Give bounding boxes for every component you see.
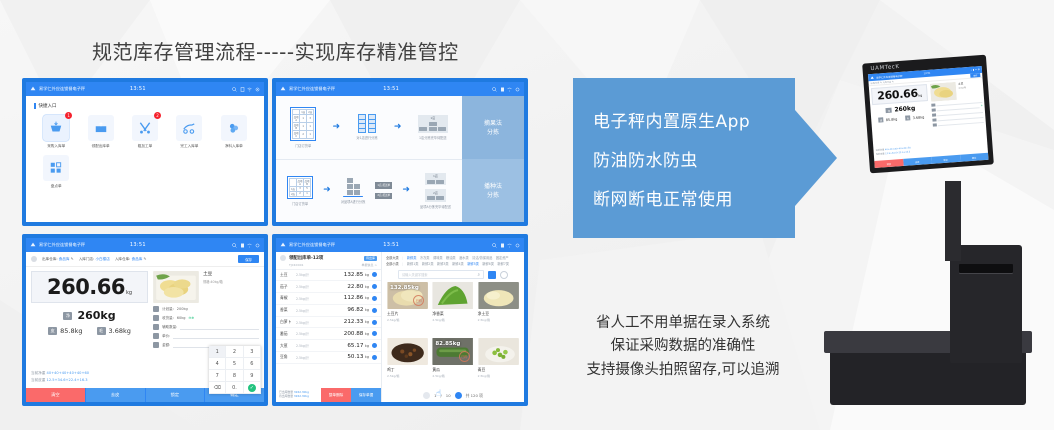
label: 收货量: bbox=[162, 316, 174, 321]
statusbar-time: 13:51 bbox=[383, 86, 399, 92]
item-name: 白萝卜 bbox=[280, 319, 296, 325]
item-unit: kg bbox=[365, 355, 369, 359]
flow-step-order: 1店2店 品项A13 品项B11 品项C21 门店订货单 bbox=[290, 107, 316, 148]
step-caption: 对1店进行分拣 bbox=[356, 135, 377, 140]
arrow-right-icon: ➜ bbox=[402, 186, 410, 195]
item-qty: 112.86 bbox=[320, 295, 363, 301]
key-9[interactable]: 9 bbox=[244, 370, 261, 382]
tile[interactable] bbox=[88, 115, 114, 141]
product-card[interactable]: 鸡丁 2.5kg/箱 bbox=[387, 338, 428, 389]
screen-lock-button[interactable]: 锁定 bbox=[931, 155, 960, 164]
key-backspace[interactable]: ⌫ bbox=[209, 382, 226, 394]
statusbar-time: 13:51 bbox=[130, 86, 146, 92]
field-icon bbox=[153, 333, 159, 339]
item-name: 番茄 bbox=[280, 331, 296, 337]
product-card[interactable]: 净香菜 2.5kg/箱 bbox=[432, 282, 473, 333]
scale-screen[interactable]: 易学仁外应连锁餐电子秤 13:51 ⌕ ▮ ≈ ⚙ 出库仓库 ✎ 入库门店 ✎ … bbox=[868, 66, 989, 168]
dispatch-outbound-icon bbox=[94, 121, 108, 135]
flow-row-picking: 1店2店 品项A13 品项B11 品项C21 门店订货单 ➜ bbox=[276, 96, 462, 159]
product-spec: 2.5kg/箱 bbox=[432, 318, 473, 322]
product-name: 土豆 bbox=[203, 271, 223, 277]
caption-line-3: 支持摄像头拍照留存,可以追溯 bbox=[538, 359, 828, 382]
delivery-tag-2: 2店 配送单 bbox=[375, 193, 392, 199]
screen-weight-display: 260.66 kg bbox=[871, 84, 928, 105]
product-spec: 2.5kg/箱 bbox=[432, 374, 473, 378]
field-received-qty[interactable]: 收货量:60kg⊖⊕ bbox=[153, 315, 259, 321]
category-bars: 全部大类 | 新鲜类 冷冻类 调味类 粮油类 酒水类 清洁/劳保用品 固定资产 … bbox=[382, 252, 524, 267]
item-qty: 22.80 bbox=[320, 284, 363, 290]
screen-confirm-button[interactable]: 确定 bbox=[960, 153, 989, 162]
screen-net-value: 260kg bbox=[894, 105, 915, 114]
quick-entry-grid: 1 采购入库单 领配出库单 2 bbox=[26, 109, 264, 189]
product-name: 净香菜 bbox=[432, 311, 473, 317]
brand-label: UAMTecK bbox=[870, 64, 900, 72]
potato-slices-image bbox=[930, 82, 957, 102]
value: 200kg bbox=[177, 307, 188, 311]
td: 品项A bbox=[293, 114, 300, 122]
field-plan-qty[interactable]: 计划量:200kg bbox=[153, 306, 259, 312]
item-qty: 65.17 bbox=[320, 343, 363, 349]
screen-net-chip: 净 bbox=[886, 108, 892, 113]
item-unit: kg bbox=[365, 296, 369, 300]
caption-line-2: 保证采购数据的准确性 bbox=[538, 335, 828, 358]
tile[interactable] bbox=[221, 115, 247, 141]
order-header: 领配出库单-12项 待出库 TJCKX001 单据信息 > bbox=[276, 252, 381, 270]
tile[interactable] bbox=[176, 115, 202, 141]
product-name: 土豆片 bbox=[387, 311, 428, 317]
label: 辅助数量: bbox=[162, 325, 177, 330]
product-name: 青豆 bbox=[478, 367, 519, 373]
battery-icon bbox=[500, 87, 505, 92]
product-card[interactable]: 青豆 2.5kg/箱 bbox=[478, 338, 519, 389]
net-chip: 净 bbox=[63, 312, 72, 320]
callout-line-3: 断网断电正常使用 bbox=[593, 185, 795, 210]
item-spec: 2.5kg/斤 bbox=[296, 331, 320, 336]
order-sums: 已出库数量 3262.30kg 待出库数量 3262.30kg bbox=[276, 388, 321, 402]
net-value: 260kg bbox=[77, 309, 115, 322]
check-icon: ✓ bbox=[248, 384, 256, 392]
store-card-title: 1店 bbox=[430, 116, 435, 120]
lock-button[interactable]: 锁定 bbox=[145, 388, 205, 402]
flow-row-sowing: 品项A品项B 1店35 2店21 门店订货单 ➜ bbox=[276, 159, 462, 223]
td: 2 bbox=[297, 191, 304, 196]
item-qty: 212.33 bbox=[320, 319, 363, 325]
order-table: 1店2店 品项A13 品项B11 品项C21 bbox=[290, 107, 316, 141]
rough-processing-icon bbox=[138, 121, 152, 135]
side-label-line1: 播种法 bbox=[484, 183, 502, 190]
table-row[interactable]: 青椒2.5kg/斤112.86kg bbox=[276, 293, 381, 305]
refresh-icon[interactable] bbox=[500, 271, 508, 279]
order-title: 领配出库单-12项 bbox=[289, 255, 323, 261]
item-spec: 2.5kg/斤 bbox=[296, 308, 320, 313]
item-spec: 2.5kg/斤 bbox=[296, 272, 320, 277]
item-action-icon[interactable] bbox=[372, 284, 377, 289]
search-icon bbox=[492, 87, 497, 92]
weight-display: 260.66 kg bbox=[31, 271, 148, 303]
label: 金额: bbox=[162, 343, 170, 348]
field-aux-qty[interactable]: 辅助数量: bbox=[153, 324, 259, 330]
tile-label: 领配出库单 bbox=[92, 144, 110, 149]
product-name: 净土豆 bbox=[478, 311, 519, 317]
item-unit: kg bbox=[365, 285, 369, 289]
order-panel: 领配出库单-12项 待出库 TJCKX001 单据信息 > 土豆2.5kg/斤1… bbox=[276, 252, 382, 402]
app-logo-icon bbox=[280, 242, 286, 248]
key-3[interactable]: 3 bbox=[244, 346, 261, 358]
screen-product-spec: 40kg/箱 bbox=[958, 86, 966, 90]
item-unit: kg bbox=[365, 273, 369, 277]
pagination: ☝ 1 / 10 共 120 项 bbox=[382, 389, 524, 402]
screen-tare-chip: 皮 bbox=[878, 117, 884, 122]
key-1[interactable]: 1 bbox=[209, 346, 226, 358]
screen-save-button[interactable]: 保存 bbox=[970, 73, 980, 77]
arrow-right-icon: ➜ bbox=[394, 123, 402, 132]
sum-expr: 12.5+34.6+22.4+16.3 bbox=[47, 378, 88, 382]
product-spec: 2.5kg/箱 bbox=[387, 374, 428, 378]
key-6[interactable]: 6 bbox=[244, 358, 261, 370]
save-order-button[interactable]: 保存单据 bbox=[351, 388, 381, 402]
field-icon bbox=[153, 306, 159, 312]
diced-chicken-image bbox=[387, 338, 428, 365]
item-qty: 200.88 bbox=[320, 331, 363, 337]
label: 入库门店: bbox=[79, 257, 95, 261]
product-image bbox=[478, 338, 519, 365]
stocktake-icon bbox=[49, 161, 63, 175]
store-card-title: 2店 bbox=[433, 191, 438, 195]
key-2[interactable]: 2 bbox=[226, 346, 243, 358]
flow-step-cart: 对品项A进行分拣 bbox=[341, 178, 366, 205]
product-row: 土豆 规格:40kg/箱 bbox=[153, 271, 259, 303]
quick-entry-item-rough-processing[interactable]: 2 粗加工单 bbox=[123, 115, 167, 149]
printer-paper-slot bbox=[959, 264, 1014, 275]
order-items: 土豆2.5kg/斤132.85kg 茄子2.5kg/斤22.80kg 青椒2.5… bbox=[276, 270, 381, 389]
screen-weight: 260.66 bbox=[877, 87, 918, 103]
item-qty: 132.85 bbox=[320, 272, 363, 278]
screenshot-quick-entry[interactable]: 易学仁外应连锁餐电子秤 13:51 快捷入口 1 采购入库单 bbox=[22, 78, 268, 226]
item-name: 香菜 bbox=[280, 307, 296, 313]
shelf-graphic bbox=[358, 114, 376, 133]
avatar bbox=[31, 256, 37, 262]
quick-entry-item-finished-inbound[interactable]: 完工入库单 bbox=[167, 115, 211, 149]
side-label-line2: 分拣 bbox=[487, 192, 499, 199]
scale-neck bbox=[945, 181, 961, 261]
sum2-key: 待出库数量 bbox=[279, 394, 293, 398]
battery-icon bbox=[240, 243, 245, 248]
td: 2店 bbox=[290, 191, 297, 196]
product-spec: 2.5kg/箱 bbox=[478, 374, 519, 378]
screen-product-thumb bbox=[930, 82, 957, 102]
save-button[interactable]: 保存 bbox=[238, 255, 259, 263]
side-label-sowing: 播种法 分拣 bbox=[462, 159, 524, 222]
tile-label: 采购入库单 bbox=[47, 144, 65, 149]
product-spec: 2.5kg/箱 bbox=[478, 318, 519, 322]
field-icon bbox=[153, 324, 159, 330]
screen-product-name: 土豆 bbox=[958, 81, 966, 86]
tare-button[interactable]: 去皮 bbox=[85, 388, 145, 402]
quick-entry-item-dispatch-outbound[interactable]: 领配出库单 bbox=[78, 115, 122, 149]
step-caption: 门店订货单 bbox=[292, 201, 308, 206]
statusbar: 易学仁外应连锁餐电子秤 13:51 bbox=[276, 82, 524, 96]
product-thumbnail bbox=[153, 271, 199, 303]
screen-sum2-key: 当前皮重 bbox=[876, 152, 885, 156]
badge: 2 bbox=[154, 112, 161, 119]
value: 60kg bbox=[177, 316, 186, 320]
purchase-inbound-icon bbox=[49, 121, 63, 135]
benefits-caption: 省人工不用单据在录入系统 保证采购数据的准确性 支持摄像头拍照留存,可以追溯 bbox=[538, 312, 828, 382]
statusbar-app-title: 易学仁外应连锁餐电子秤 bbox=[39, 242, 85, 248]
field-in-warehouse[interactable]: 入库仓库: 食品库 ✎ bbox=[115, 257, 147, 262]
search-input[interactable]: 请输入关键字搜索 ⌕ bbox=[398, 270, 484, 279]
arrow-right-icon: ➜ bbox=[323, 186, 331, 195]
grid-view-icon[interactable] bbox=[488, 271, 496, 279]
store-card-title: 1店 bbox=[433, 174, 438, 178]
item-unit: kg bbox=[365, 344, 369, 348]
item-action-icon[interactable] bbox=[372, 355, 377, 360]
step-caption: 门店订货单 bbox=[295, 143, 311, 148]
app-logo-icon bbox=[280, 86, 286, 92]
step-caption: 对品项A进行分拣 bbox=[341, 199, 366, 204]
flow-step-shelves: 对1店进行分拣 bbox=[356, 114, 377, 140]
item-spec: 2.5kg/斤 bbox=[296, 296, 320, 301]
item-spec: 2.5kg/斤 bbox=[296, 284, 320, 289]
value: 食品库 bbox=[132, 257, 143, 261]
page-total: 10 bbox=[446, 393, 451, 398]
product-spec: 2.5kg/箱 bbox=[387, 318, 428, 322]
order-icon bbox=[280, 255, 286, 261]
weight-value: 260.66 bbox=[47, 275, 125, 299]
item-count: 共 120 项 bbox=[466, 393, 483, 399]
label: 出库仓库: bbox=[42, 257, 58, 261]
item-action-icon[interactable] bbox=[372, 296, 377, 301]
app-logo-icon bbox=[870, 75, 874, 79]
order-footer: 已出库数量 3262.30kg 待出库数量 3262.30kg 整单删除 保存单… bbox=[276, 388, 381, 402]
product-image bbox=[387, 338, 428, 365]
page-title: 规范库存管理流程-----实现库存精准管控 bbox=[92, 36, 459, 65]
key-4[interactable]: 4 bbox=[209, 358, 226, 370]
item-action-icon[interactable] bbox=[372, 308, 377, 313]
side-label-line1: 摘果法 bbox=[484, 120, 502, 127]
search-placeholder: 请输入关键字搜索 bbox=[402, 272, 428, 277]
store-card-2: 2店 bbox=[425, 189, 446, 202]
flow-main: 1店2店 品项A13 品项B11 品项C21 门店订货单 ➜ bbox=[276, 96, 462, 222]
weight-sums: 当前净重 40+40+40+40+40+60 当前皮重 12.5+34.6+22… bbox=[31, 370, 148, 388]
product-image: 82.85kg 已称 bbox=[432, 338, 473, 365]
peeled-potato-image bbox=[478, 282, 519, 309]
td: 1 bbox=[300, 122, 307, 130]
td: 品项C bbox=[293, 130, 300, 138]
item-name: 大葱 bbox=[280, 343, 296, 349]
search-icon[interactable]: ⌕ bbox=[477, 272, 480, 278]
screen-net-row: 净 260kg bbox=[872, 104, 929, 115]
screen-right: 土豆 40kg/箱 ⊕ bbox=[930, 80, 986, 155]
field-icon bbox=[153, 342, 159, 348]
table-row[interactable]: 番茄2.5kg/斤200.88kg bbox=[276, 328, 381, 340]
product-picker: 全部大类 | 新鲜类 冷冻类 调味类 粮油类 酒水类 清洁/劳保用品 固定资产 … bbox=[382, 252, 524, 402]
screenshot-weighing[interactable]: 易学仁外应连锁餐电子秤 13:51 出库仓库: 食品库 ✎ 入库门店: 小白楼店… bbox=[22, 234, 268, 406]
wifi-icon bbox=[247, 87, 252, 92]
flow-side-labels: 摘果法 分拣 播种法 分拣 bbox=[462, 96, 524, 222]
statusbar-app-title: 易学仁外应连锁餐电子秤 bbox=[39, 86, 85, 92]
item-name: 土豆 bbox=[280, 272, 296, 278]
td: 1 bbox=[307, 122, 314, 130]
search-row: 请输入关键字搜索 ⌕ bbox=[382, 267, 524, 282]
flow-step-ready: 1店 2店 品项A分拣完毕待配送 bbox=[420, 173, 451, 209]
item-action-icon[interactable] bbox=[372, 331, 377, 336]
statusbar-icons bbox=[232, 87, 260, 92]
screen-tare-button[interactable]: 去皮 bbox=[903, 157, 932, 166]
screen-tare-value: 85.8kg bbox=[886, 117, 898, 122]
prev-page-button[interactable] bbox=[423, 392, 430, 399]
gross-chip: 毛 bbox=[97, 327, 106, 335]
settings-icon bbox=[255, 87, 260, 92]
screenshot-order-list[interactable]: 易学仁外应连锁餐电子秤 13:51 领配出库单-12项 待出库 TJC bbox=[272, 234, 528, 406]
weight-overlay: 132.85kg bbox=[390, 285, 419, 291]
product-name: 黄瓜 bbox=[432, 367, 473, 373]
field-in-store[interactable]: 入库门店: 小白楼店 bbox=[79, 257, 110, 262]
quick-entry-item-purchase-inbound[interactable]: 1 采购入库单 bbox=[34, 115, 78, 149]
item-spec: 2.5kg/斤 bbox=[296, 320, 320, 325]
td: 3 bbox=[307, 114, 314, 122]
callout-arrow bbox=[795, 110, 837, 206]
key-decimal-zero[interactable]: 0. bbox=[226, 382, 243, 394]
finished-inbound-icon bbox=[182, 121, 196, 135]
net-weight-row: 净 260kg bbox=[31, 309, 148, 322]
field-icon bbox=[153, 315, 159, 321]
screen-weight-unit: kg bbox=[918, 93, 922, 97]
table-row[interactable]: 豆角2.5kg/斤50.13kg bbox=[276, 352, 381, 364]
settings-icon bbox=[255, 243, 260, 248]
step-caption: 1店分拣完毕待配送 bbox=[419, 135, 447, 140]
statusbar-time: 13:51 bbox=[130, 242, 146, 248]
arrow-right-icon: ➜ bbox=[333, 123, 341, 132]
table-row[interactable]: 白萝卜2.5kg/斤212.33kg bbox=[276, 317, 381, 329]
scale-device: UAMTecK 易学仁外应连锁餐电子秤 13:51 ⌕ ▮ ≈ ⚙ 出库仓库 ✎… bbox=[820, 55, 1054, 430]
screenshot-sorting-flow[interactable]: 易学仁外应连锁餐电子秤 13:51 1店2店 品项A13 bbox=[272, 78, 528, 226]
settings-icon bbox=[515, 87, 520, 92]
delivery-tag-1: 1店 配送单 bbox=[375, 182, 392, 188]
weighing-body: 260.66 kg 净 260kg 皮 85.8kg 毛 3.68kg bbox=[26, 267, 264, 388]
side-label-line2: 分拣 bbox=[487, 129, 499, 136]
order-list-body: 领配出库单-12项 待出库 TJCKX001 单据信息 > 土豆2.5kg/斤1… bbox=[276, 252, 524, 402]
item-qty: 96.82 bbox=[320, 307, 363, 313]
item-unit: kg bbox=[365, 332, 369, 336]
clear-button[interactable]: 清空 bbox=[26, 388, 85, 402]
tile-label: 粗加工单 bbox=[138, 144, 152, 149]
screen-gross-chip: 毛 bbox=[905, 115, 911, 120]
tile[interactable]: 2 bbox=[132, 115, 158, 141]
product-card[interactable]: 82.85kg 已称 黄瓜 2.5kg/箱 bbox=[432, 338, 473, 389]
search-icon bbox=[232, 87, 237, 92]
tile[interactable] bbox=[43, 155, 69, 181]
item-spec: 2.5kg/斤 bbox=[296, 355, 320, 360]
key-5[interactable]: 5 bbox=[226, 358, 243, 370]
weighed-stamp: 已称 bbox=[459, 351, 470, 362]
wifi-icon bbox=[507, 87, 512, 92]
sorting-flow-body: 1店2店 品项A13 品项B11 品项C21 门店订货单 ➜ bbox=[276, 96, 524, 222]
side-label-picking: 摘果法 分拣 bbox=[462, 96, 524, 159]
feature-callout: 电子秤内置原生App 防油防水防虫 断网断电正常使用 bbox=[573, 78, 839, 238]
statusbar-icons bbox=[492, 87, 520, 92]
green-peas-image bbox=[478, 338, 519, 365]
item-qty: 50.13 bbox=[320, 354, 363, 360]
next-page-button[interactable] bbox=[455, 392, 462, 399]
numeric-keypad[interactable]: 1 2 3 4 5 6 7 8 9 ⌫ 0. ✓ bbox=[209, 346, 261, 394]
item-action-icon[interactable] bbox=[372, 320, 377, 325]
callout-lines: 电子秤内置原生App 防油防水防虫 断网断电正常使用 bbox=[573, 78, 795, 238]
battery-icon bbox=[240, 87, 245, 92]
quick-entry-item-stocktake[interactable]: 盘点单 bbox=[34, 155, 78, 189]
sum-key: 当前净重 bbox=[31, 371, 45, 375]
product-image bbox=[432, 282, 473, 309]
key-confirm[interactable]: ✓ bbox=[244, 382, 261, 394]
delete-order-button[interactable]: 整单删除 bbox=[321, 388, 351, 402]
item-name: 青椒 bbox=[280, 295, 296, 301]
item-spec: 2.5kg/斤 bbox=[296, 343, 320, 348]
screen-left: 260.66 kg 净 260kg 皮85.8kg 毛3.68kg 当前净重 4… bbox=[871, 84, 932, 159]
wifi-icon bbox=[247, 243, 252, 248]
table-row[interactable]: 大葱2.5kg/斤65.17kg bbox=[276, 340, 381, 352]
screen-status-icons: ⌕ ▮ ≈ ⚙ bbox=[971, 68, 980, 72]
field-out-warehouse[interactable]: 出库仓库: 食品库 ✎ bbox=[42, 257, 74, 262]
tare-gross-row: 皮 85.8kg 毛 3.68kg bbox=[31, 327, 148, 335]
th: 品项B bbox=[304, 178, 311, 186]
order-table: 品项A品项B 1店35 2店21 bbox=[287, 176, 313, 199]
td: 1 bbox=[300, 114, 307, 122]
cilantro-image bbox=[432, 282, 473, 309]
product-name: 鸡丁 bbox=[387, 367, 428, 373]
order-meta-link[interactable]: 单据信息 > bbox=[362, 263, 377, 267]
th: 品项A bbox=[297, 178, 304, 186]
screen-main: 260.66 kg 净 260kg 皮85.8kg 毛3.68kg 当前净重 4… bbox=[869, 78, 988, 161]
potato-slices-image bbox=[153, 271, 199, 303]
flow-step-ready: 1店 1店分拣完毕待配送 bbox=[418, 115, 448, 140]
store-card: 1店 bbox=[418, 115, 448, 133]
order-code: TJCKX001 bbox=[289, 263, 304, 267]
sum-key: 当前皮重 bbox=[31, 378, 45, 382]
product-card[interactable]: 净土豆 2.5kg/箱 bbox=[478, 282, 519, 333]
screen-clear-button[interactable]: 清空 bbox=[874, 159, 903, 168]
item-action-icon[interactable] bbox=[372, 272, 377, 277]
weighing-right: 土豆 规格:40kg/箱 计划量:200kg 收货量:60kg⊖⊕ 辅助数量: … bbox=[153, 271, 259, 388]
table-row[interactable]: 香菜2.5kg/斤96.82kg bbox=[276, 305, 381, 317]
app-logo-icon bbox=[30, 242, 36, 248]
tile[interactable]: 1 bbox=[43, 115, 69, 141]
key-8[interactable]: 8 bbox=[226, 370, 243, 382]
table-row[interactable]: 茄子2.5kg/斤22.80kg bbox=[276, 281, 381, 293]
sum2-val: 3262.30kg bbox=[294, 394, 309, 398]
table-row[interactable]: 土豆2.5kg/斤132.85kg bbox=[276, 270, 381, 282]
field-unit-price[interactable]: 单价: bbox=[153, 333, 259, 339]
value: 食品库 bbox=[59, 257, 70, 261]
callout-line-2: 防油防水防虫 bbox=[593, 146, 795, 171]
quick-entry-item-net-material[interactable]: 净料入库单 bbox=[212, 115, 256, 149]
product-card[interactable]: 132.85kg 已称 土豆片 2.5kg/箱 bbox=[387, 282, 428, 333]
tare-value: 85.8kg bbox=[60, 327, 82, 335]
item-name: 豆角 bbox=[280, 354, 296, 360]
item-unit: kg bbox=[365, 308, 369, 312]
th bbox=[290, 178, 297, 186]
td: 1 bbox=[307, 130, 314, 138]
flow-step-order: 品项A品项B 1店35 2店21 门店订货单 bbox=[287, 176, 313, 206]
stepper-icon[interactable]: ⊖⊕ bbox=[188, 316, 194, 320]
search-icon bbox=[232, 243, 237, 248]
step-caption: 品项A分拣完毕待配送 bbox=[420, 204, 451, 209]
item-action-icon[interactable] bbox=[372, 343, 377, 348]
product-image bbox=[478, 282, 519, 309]
scale-screen-bezel: UAMTecK 易学仁外应连锁餐电子秤 13:51 ⌕ ▮ ≈ ⚙ 出库仓库 ✎… bbox=[862, 55, 994, 174]
key-7[interactable]: 7 bbox=[209, 370, 226, 382]
screen-tare-row: 皮85.8kg 毛3.68kg bbox=[873, 114, 929, 123]
statusbar: 易学仁外应连锁餐电子秤 13:51 bbox=[26, 82, 264, 96]
